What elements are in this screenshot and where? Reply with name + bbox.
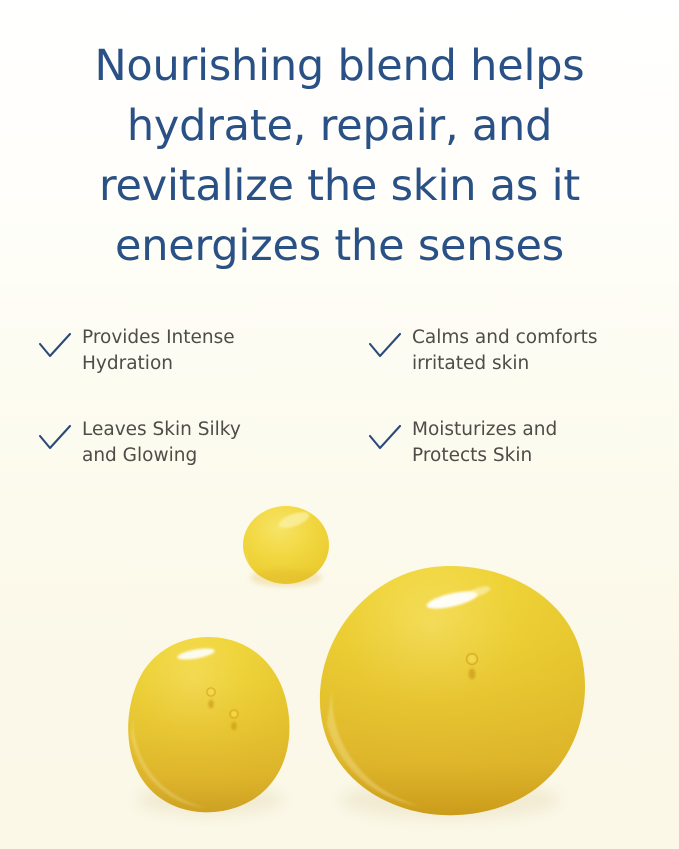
headline-line-4: energizes the senses bbox=[0, 216, 679, 276]
small-droplet-highlight bbox=[277, 509, 311, 531]
small-droplet bbox=[243, 506, 329, 587]
check-icon bbox=[38, 331, 72, 363]
check-icon bbox=[38, 423, 72, 455]
benefit-label: Provides Intense Hydration bbox=[82, 324, 235, 377]
benefit-label: Moisturizes and Protects Skin bbox=[412, 416, 557, 469]
medium-droplet bbox=[128, 637, 289, 812]
check-icon bbox=[368, 423, 402, 455]
product-benefits-infographic: Nourishing blend helps hydrate, repair, … bbox=[0, 0, 679, 849]
benefit-item-calms-and-comforts-irritated-skin: Calms and comforts irritated skin bbox=[368, 324, 668, 377]
large-droplet bbox=[320, 566, 585, 815]
headline-line-1: Nourishing blend helps bbox=[0, 36, 679, 96]
headline-line-2: hydrate, repair, and bbox=[0, 96, 679, 156]
page-title: Nourishing blend helps hydrate, repair, … bbox=[0, 36, 679, 276]
medium-droplet-bubble-2 bbox=[230, 710, 238, 730]
headline-line-3: revitalize the skin as it bbox=[0, 156, 679, 216]
medium-droplet-bubble-1 bbox=[207, 688, 215, 709]
medium-droplet-highlight bbox=[177, 646, 216, 661]
benefit-item-leaves-skin-silky-and-glowing: Leaves Skin Silky and Glowing bbox=[38, 416, 338, 469]
large-droplet-bubble bbox=[467, 654, 478, 680]
benefit-item-moisturizes-and-protects-skin: Moisturizes and Protects Skin bbox=[368, 416, 668, 469]
benefit-item-provides-intense-hydration: Provides Intense Hydration bbox=[38, 324, 338, 377]
benefit-label: Calms and comforts irritated skin bbox=[412, 324, 597, 377]
benefits-list: Provides Intense Hydration Calms and com… bbox=[0, 318, 679, 490]
benefit-label: Leaves Skin Silky and Glowing bbox=[82, 416, 241, 469]
large-droplet-highlight bbox=[425, 588, 479, 612]
check-icon bbox=[368, 331, 402, 363]
